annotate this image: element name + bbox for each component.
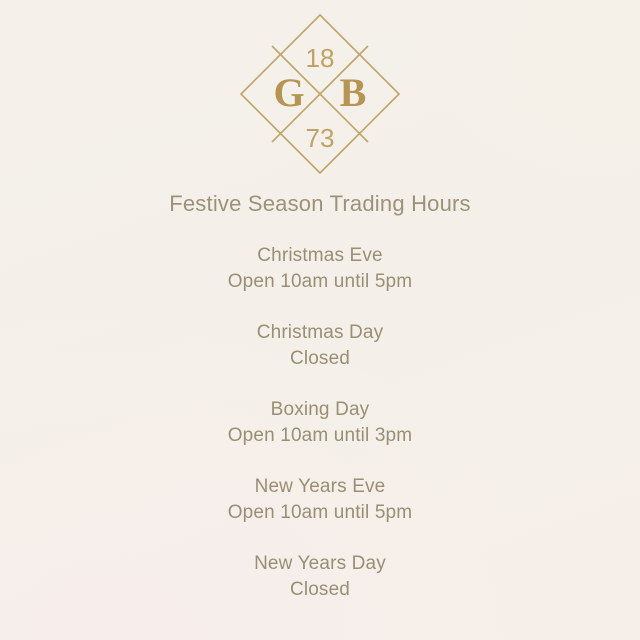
list-item: New Years Eve Open 10am until 5pm <box>0 474 640 526</box>
entry-hours: Closed <box>0 577 640 603</box>
entry-hours: Closed <box>0 346 640 372</box>
trading-hours-list: Christmas Eve Open 10am until 5pm Christ… <box>0 243 640 603</box>
logo-bottom-number: 73 <box>306 123 335 153</box>
list-item: New Years Day Closed <box>0 551 640 603</box>
entry-day: New Years Day <box>0 551 640 577</box>
page-title: Festive Season Trading Hours <box>0 190 640 218</box>
logo-top-number: 18 <box>306 43 335 73</box>
entry-day: Christmas Day <box>0 320 640 346</box>
logo-left-letter: G <box>273 70 304 115</box>
entry-day: Boxing Day <box>0 397 640 423</box>
list-item: Christmas Day Closed <box>0 320 640 372</box>
list-item: Boxing Day Open 10am until 3pm <box>0 397 640 449</box>
entry-hours: Open 10am until 5pm <box>0 500 640 526</box>
logo-right-letter: B <box>340 70 367 115</box>
entry-hours: Open 10am until 5pm <box>0 269 640 295</box>
brand-logo: 18 G B 73 <box>239 13 401 175</box>
entry-hours: Open 10am until 3pm <box>0 423 640 449</box>
entry-day: Christmas Eve <box>0 243 640 269</box>
list-item: Christmas Eve Open 10am until 5pm <box>0 243 640 295</box>
entry-day: New Years Eve <box>0 474 640 500</box>
festive-hours-poster: 18 G B 73 Festive Season Trading Hours C… <box>0 0 640 640</box>
